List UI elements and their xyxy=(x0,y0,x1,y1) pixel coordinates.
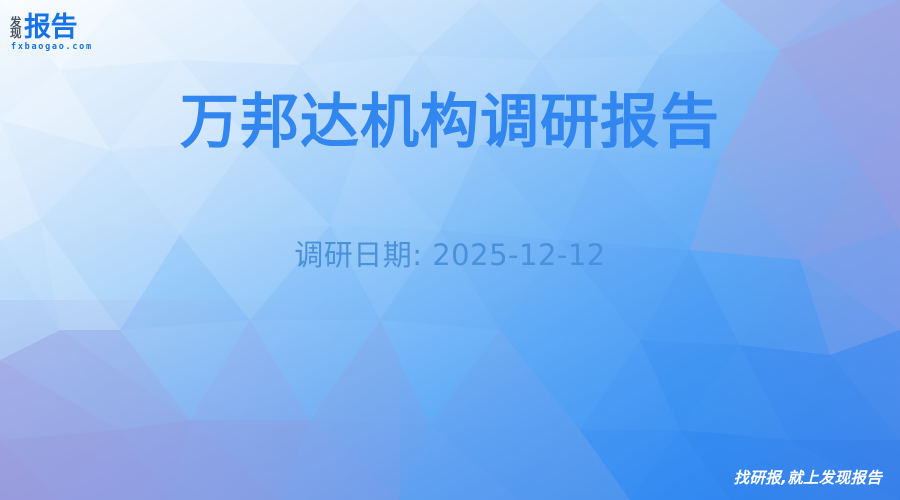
survey-date-subtitle: 调研日期: 2025-12-12 xyxy=(0,232,900,274)
logo-wordmark-row: 发 现 报告 xyxy=(10,11,170,41)
page-title: 万邦达机构调研报告 xyxy=(0,88,900,156)
logo-wordmark: 报告 xyxy=(24,15,77,41)
logo-domain-text: fxbaogao.com xyxy=(11,42,170,52)
footer-tagline: 找研报,就上发现报告 xyxy=(734,466,882,488)
brand-logo[interactable]: 发 现 报告 fxbaogao.com xyxy=(10,11,170,52)
report-cover-page: 发 现 报告 fxbaogao.com 万邦达机构调研报告 调研日期: 2025… xyxy=(0,0,900,500)
logo-stacked-characters: 发 现 xyxy=(10,17,21,41)
logo-char-xian: 现 xyxy=(10,28,21,40)
